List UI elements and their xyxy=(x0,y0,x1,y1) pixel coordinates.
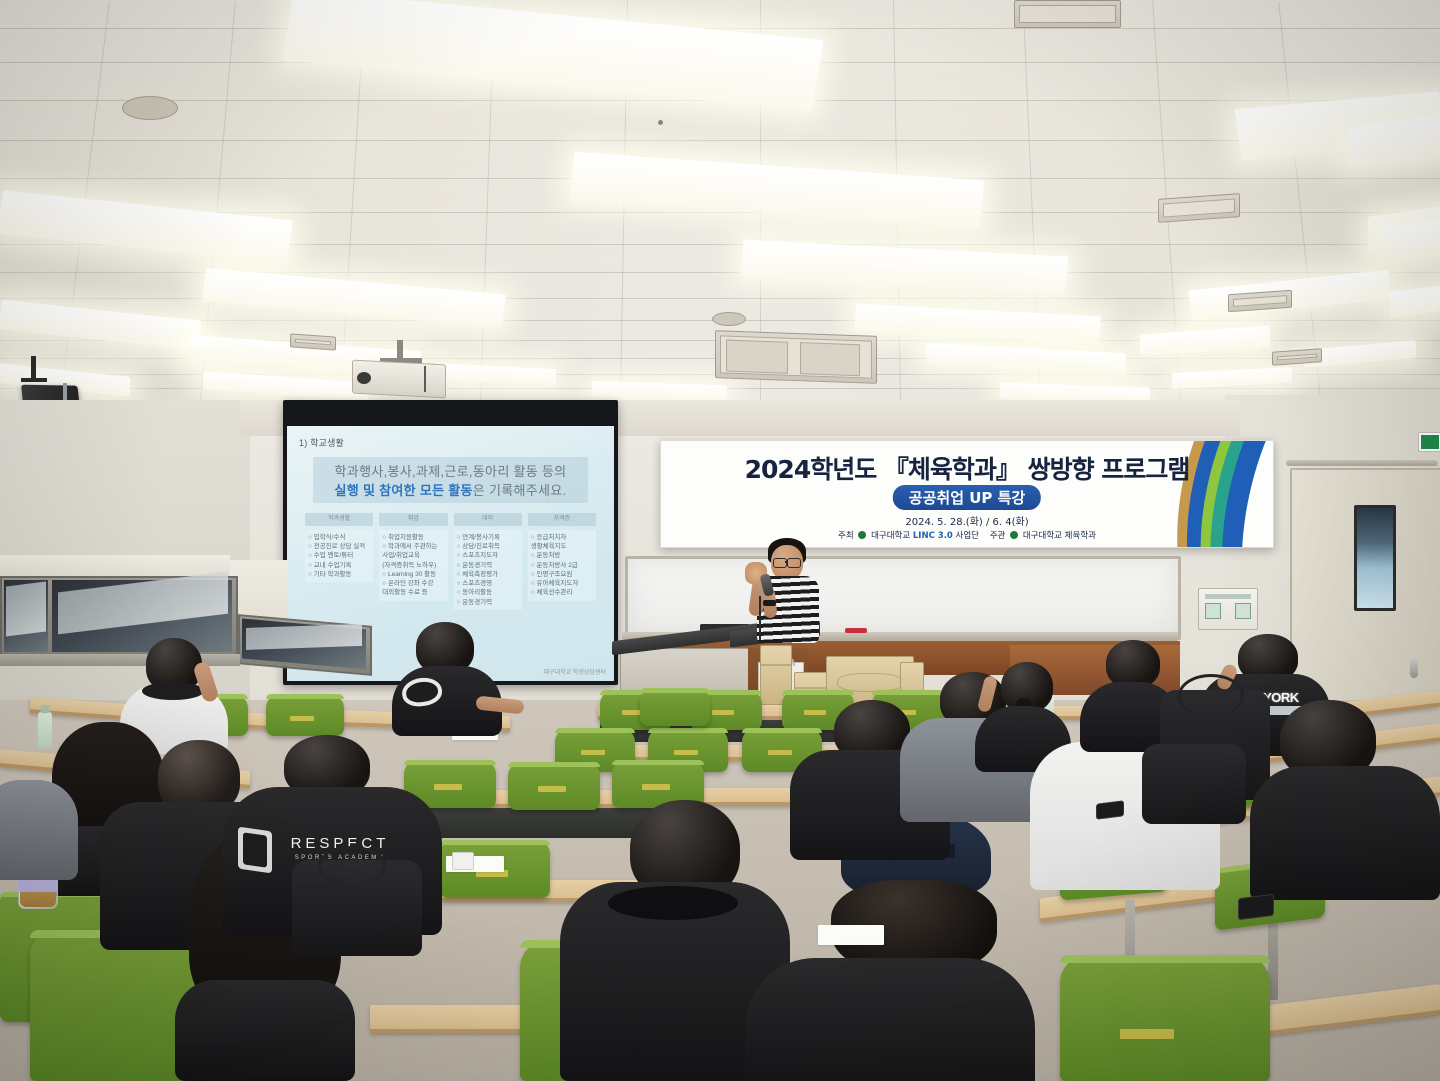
whiteboard-marker xyxy=(845,628,867,633)
torso xyxy=(745,958,1035,1081)
slide-column-body: ○ 입학식/수식 ○ 전공진로 상담 실적 ○ 수업 멘토/튜터 ○ 교내 수업… xyxy=(305,530,373,582)
door-handle[interactable] xyxy=(1410,656,1418,678)
ac-diffuser xyxy=(715,330,877,384)
slide-column: 자격증 ○ 응급처치자 생활체육지도 ○ 운동처방 ○ 운동처방사 2급 ○ 인… xyxy=(528,513,596,610)
banner-linc: LINC 3.0 xyxy=(913,531,953,541)
banner-swoosh-left xyxy=(661,441,723,547)
speaker-mount-arm xyxy=(21,378,47,382)
slide-bullet: ○ 인명구조요원 xyxy=(531,570,593,579)
slide-column-header: 학과생활 xyxy=(305,513,373,526)
lecture-hall-photo: 2024학년도 『체육학과』 쌍방향 프로그램 공공취업 UP 특강 2024.… xyxy=(0,0,1440,1081)
slide-bullet: ○ 스포츠경영 xyxy=(457,579,519,588)
banner-title: 2024학년도 『체육학과』 쌍방향 프로그램 xyxy=(723,450,1211,486)
slide-column-body: ○ 연계/봉사기록 ○ 상담/진로취득 ○ 스포츠지도자 ○ 운동경기력 ○ 체… xyxy=(454,530,522,610)
host-emblem-icon xyxy=(858,531,866,539)
slide-bullet: ○ 취업지원활동 xyxy=(382,533,444,542)
slide-bullet: ○ 체육측정평가 xyxy=(457,570,519,579)
student-edge-left xyxy=(0,760,78,880)
sprinkler-head xyxy=(658,120,663,125)
slide-line-2: 실행 및 참여한 모든 활동은 기록해주세요. xyxy=(319,480,582,499)
microphone-cable xyxy=(759,596,761,640)
door-closer xyxy=(1286,460,1438,466)
slide-bullet: ○ 체육선수관리 xyxy=(531,588,593,597)
slide-bullet: 대외활동 수료 등 xyxy=(382,588,444,597)
banner-date: 2024. 5. 28.(화) / 6. 4(화) xyxy=(905,513,1028,528)
torso xyxy=(175,980,355,1081)
door-window xyxy=(1354,505,1396,611)
slide-columns: 학과생활 ○ 입학식/수식 ○ 전공진로 상담 실적 ○ 수업 멘토/튜터 ○ … xyxy=(305,513,596,610)
eraser-block xyxy=(452,852,474,870)
slide-bullet: ○ 온라인 강좌 수강 xyxy=(382,579,444,588)
event-banner: 2024학년도 『체육학과』 쌍방향 프로그램 공공취업 UP 특강 2024.… xyxy=(660,440,1274,548)
hood xyxy=(608,886,738,920)
slide-bullet: ○ 기타 학과활동 xyxy=(308,570,370,579)
slide-column-header: 대외 xyxy=(454,513,522,526)
slide-bullet: ○ 스포츠지도자 xyxy=(457,551,519,560)
arm-raised xyxy=(977,675,998,713)
chair-foreground xyxy=(1060,955,1270,1081)
smartphone[interactable] xyxy=(1238,894,1274,920)
slide-column: 학과생활 ○ 입학식/수식 ○ 전공진로 상담 실적 ○ 수업 멘토/튜터 ○ … xyxy=(305,513,373,610)
slide-bullet: ○ 운동경기력 xyxy=(457,598,519,607)
slide-bullet: ○ 전공진로 상담 실적 xyxy=(308,542,370,551)
slide-bullet: ○ 학과에서 주관하는 xyxy=(382,542,444,551)
projector-lens xyxy=(357,372,371,384)
slide-footer-logo: 대구대학교 학생상담센터 xyxy=(544,667,606,676)
slide-bullet: ○ 응급처치자 xyxy=(531,533,593,542)
ceiling-speaker-grille xyxy=(712,312,746,326)
glasses-icon xyxy=(773,558,787,568)
paper-sheet xyxy=(818,925,884,945)
slide-bullet: ○ 운동처방사 2급 xyxy=(531,561,593,570)
slide-column-body: ○ 응급처치자 생활체육지도 ○ 운동처방 ○ 운동처방사 2급 ○ 인명구조요… xyxy=(528,530,596,601)
slide-column: 대외 ○ 연계/봉사기록 ○ 상담/진로취득 ○ 스포츠지도자 ○ 운동경기력 … xyxy=(454,513,522,610)
backpack xyxy=(292,860,422,956)
torso xyxy=(0,780,78,880)
projector-cable xyxy=(424,366,426,392)
panel-switch[interactable] xyxy=(1205,603,1221,619)
torso xyxy=(1250,766,1440,900)
slide-column: 취업 ○ 취업지원활동 ○ 학과에서 주관하는 사업/취업교육 (자격증취득 노… xyxy=(379,513,447,610)
slide-bullet: ○ 운동처방 xyxy=(531,551,593,560)
backpack xyxy=(1142,744,1246,824)
banner-host-label: 주최 xyxy=(838,531,854,541)
backpack-strap xyxy=(318,846,386,885)
wall-control-panel[interactable] xyxy=(1198,588,1258,630)
head xyxy=(1106,640,1160,688)
glasses-icon xyxy=(787,558,801,568)
slide-bullet: ○ 동아리활동 xyxy=(457,588,519,597)
banner-host-name: 대구대학교 xyxy=(871,531,910,541)
wrist-watch xyxy=(763,600,776,606)
slide-highlight-band: 학과행사,봉사,과제,근로,동아리 활동 등의 실행 및 참여한 모든 활동은 … xyxy=(313,457,588,503)
glasses-bridge xyxy=(785,561,788,563)
panel-switch[interactable] xyxy=(1235,603,1251,619)
slide-bullet: 사업/취업교육 xyxy=(382,551,444,560)
slide-bullet: 생활체육지도 xyxy=(531,542,593,551)
student-emblem xyxy=(388,622,506,732)
slide-line-2-strong: 실행 및 참여한 모든 활동 xyxy=(335,483,473,498)
slide-column-body: ○ 취업지원활동 ○ 학과에서 주관하는 사업/취업교육 (자격증취득 노하우)… xyxy=(379,530,447,601)
chair xyxy=(266,694,344,736)
slide-bullet: ○ 운동경기력 xyxy=(457,561,519,570)
slide-line-2-rest: 은 기록해주세요. xyxy=(473,483,567,498)
ceiling-speaker-grille xyxy=(122,96,178,120)
slide-column-header: 자격증 xyxy=(528,513,596,526)
slide-line-1: 학과행사,봉사,과제,근로,동아리 활동 등의 xyxy=(319,461,582,480)
smartphone[interactable] xyxy=(1096,800,1124,819)
slide-heading: 1) 학교생활 xyxy=(299,436,602,449)
banner-organizers: 주최 대구대학교 LINC 3.0 사업단 주관 대구대학교 체육학과 xyxy=(838,529,1096,541)
slide-bullet: ○ 상담/진로취득 xyxy=(457,542,519,551)
slide-bullet: ○ Learning 30 활동 xyxy=(382,570,444,579)
backpack-strap xyxy=(1178,674,1244,717)
ceiling-vent xyxy=(1014,0,1121,28)
banner-subtitle: 공공취업 UP 특강 xyxy=(893,485,1041,510)
exit-sign xyxy=(1418,432,1440,452)
banner-org-label: 주관 xyxy=(990,531,1006,541)
slide-column-header: 취업 xyxy=(379,513,447,526)
banner-org-name: 대구대학교 체육학과 xyxy=(1023,531,1096,541)
slide-bullet: ○ 교내 수업기록 xyxy=(308,561,370,570)
window-open-pane[interactable] xyxy=(246,624,362,650)
slide-bullet: (자격증취득 노하우) xyxy=(382,561,444,570)
slide-bullet: ○ 입학식/수식 xyxy=(308,533,370,542)
chair xyxy=(640,688,710,726)
hood xyxy=(142,682,204,700)
window-open-pane[interactable] xyxy=(6,582,46,637)
org-emblem-icon xyxy=(1010,531,1018,539)
presenter xyxy=(735,538,831,643)
banner-host-suffix: 사업단 xyxy=(956,531,979,541)
student-foreground-right xyxy=(1250,700,1440,900)
slide-bullet: ○ 유아체육지도자 xyxy=(531,579,593,588)
slide-bullet: ○ 수업 멘토/튜터 xyxy=(308,551,370,560)
slide-bullet: ○ 연계/봉사기록 xyxy=(457,533,519,542)
